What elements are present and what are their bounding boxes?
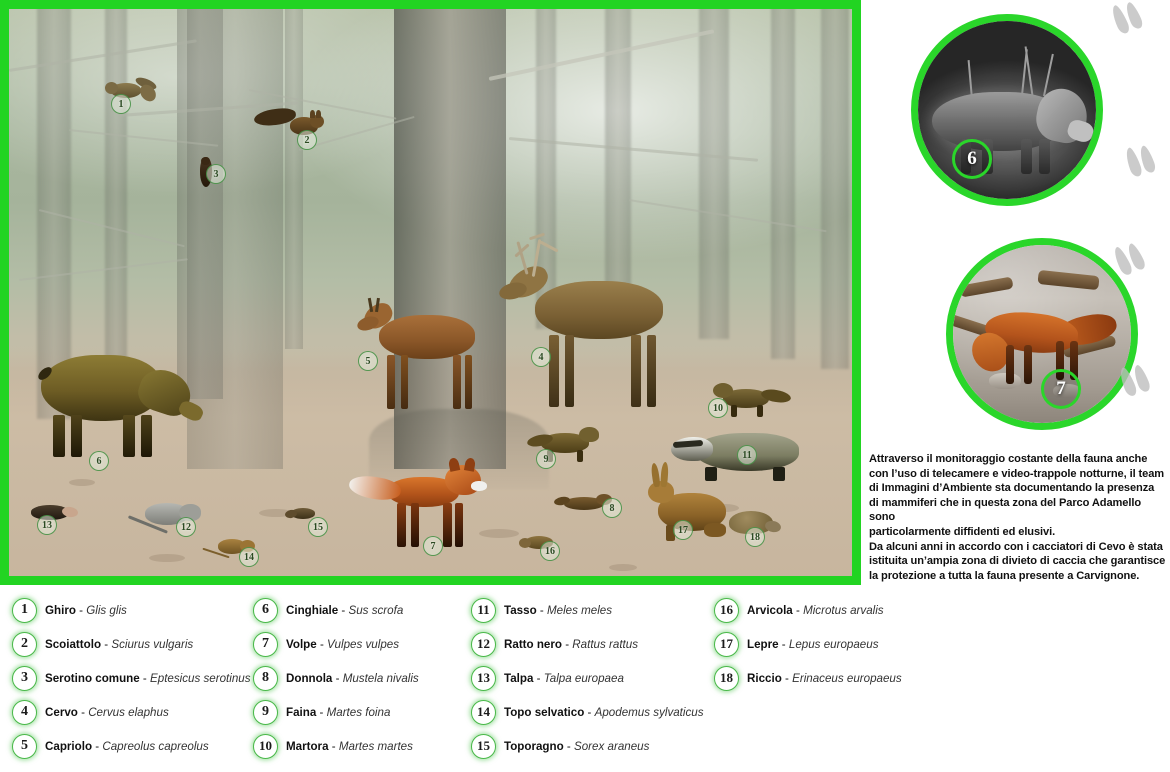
legend-species-label: Lepre - Lepus europaeus xyxy=(747,638,879,651)
desc-line: Da alcuni anni in accordo con i cacciato… xyxy=(869,540,1169,555)
legend-latin-name: Sorex araneus xyxy=(574,740,649,753)
legend-number-badge: 16 xyxy=(714,598,739,623)
legend-common-name: Cervo xyxy=(45,706,78,719)
scene-marker[interactable]: 13 xyxy=(37,515,57,535)
legend-row[interactable]: 17Lepre - Lepus europaeus xyxy=(714,627,944,661)
legend-latin-name: Erinaceus europaeus xyxy=(792,672,902,685)
legend-common-name: Topo selvatico xyxy=(504,706,584,719)
legend-row[interactable]: 13Talpa - Talpa europaea xyxy=(471,661,713,695)
legend-number-badge: 17 xyxy=(714,632,739,657)
scene-marker[interactable]: 11 xyxy=(737,445,757,465)
tree-trunk xyxy=(105,0,127,379)
legend-column-1: 1Ghiro - Glis glis2Scoiattolo - Sciurus … xyxy=(12,593,252,763)
legend-number-badge: 2 xyxy=(12,632,37,657)
scene-marker[interactable]: 4 xyxy=(531,347,551,367)
species-legend: 1Ghiro - Glis glis2Scoiattolo - Sciurus … xyxy=(0,585,1170,772)
legend-latin-name: Microtus arvalis xyxy=(803,604,884,617)
right-column: 6 7 Attraverso il monit xyxy=(861,0,1170,585)
desc-line: Attraverso il monitoraggio costante dell… xyxy=(869,452,1169,467)
legend-species-label: Cervo - Cervus elaphus xyxy=(45,706,169,719)
legend-species-label: Capriolo - Capreolus capreolus xyxy=(45,740,209,753)
legend-latin-name: Martes foina xyxy=(327,706,391,719)
scene-marker[interactable]: 9 xyxy=(536,449,556,469)
legend-latin-name: Mustela nivalis xyxy=(343,672,419,685)
legend-common-name: Scoiattolo xyxy=(45,638,101,651)
tree-trunk xyxy=(771,0,795,359)
legend-species-label: Topo selvatico - Apodemus sylvaticus xyxy=(504,706,704,719)
ground-debris xyxy=(149,554,185,562)
legend-latin-name: Eptesicus serotinus xyxy=(150,672,251,685)
photo-number-badge: 6 xyxy=(952,139,992,179)
legend-latin-name: Martes martes xyxy=(339,740,413,753)
tree-trunk xyxy=(285,0,303,349)
legend-common-name: Riccio xyxy=(747,672,782,685)
legend-row[interactable]: 14Topo selvatico - Apodemus sylvaticus xyxy=(471,695,713,729)
legend-common-name: Talpa xyxy=(504,672,533,685)
ground-debris xyxy=(609,564,637,571)
legend-number-badge: 14 xyxy=(471,700,496,725)
legend-species-label: Toporagno - Sorex araneus xyxy=(504,740,649,753)
photo-number-badge: 7 xyxy=(1041,369,1081,409)
legend-common-name: Martora xyxy=(286,740,329,753)
legend-species-label: Ratto nero - Rattus rattus xyxy=(504,638,638,651)
scene-marker[interactable]: 6 xyxy=(89,451,109,471)
legend-species-label: Arvicola - Microtus arvalis xyxy=(747,604,884,617)
legend-common-name: Tasso xyxy=(504,604,537,617)
scene-marker[interactable]: 8 xyxy=(602,498,622,518)
scene-marker[interactable]: 10 xyxy=(708,398,728,418)
legend-number-badge: 5 xyxy=(12,734,37,759)
legend-row[interactable]: 18Riccio - Erinaceus europaeus xyxy=(714,661,944,695)
legend-species-label: Faina - Martes foina xyxy=(286,706,390,719)
tree-trunk xyxy=(821,0,849,369)
legend-row[interactable]: 4Cervo - Cervus elaphus xyxy=(12,695,252,729)
legend-latin-name: Capreolus capreolus xyxy=(102,740,208,753)
scene-marker[interactable]: 12 xyxy=(176,517,196,537)
legend-latin-name: Lepus europaeus xyxy=(789,638,879,651)
legend-common-name: Capriolo xyxy=(45,740,92,753)
forest-background: 1 2 3 4 5 6 7 8 9 10 11 12 13 14 15 16 1… xyxy=(9,9,852,576)
legend-row[interactable]: 10Martora - Martes martes xyxy=(253,729,471,763)
legend-column-3: 11Tasso - Meles meles12Ratto nero - Ratt… xyxy=(471,593,713,763)
legend-number-badge: 8 xyxy=(253,666,278,691)
camera-trap-photo-boar[interactable]: 6 xyxy=(911,14,1103,206)
camera-trap-photo-fox[interactable]: 7 xyxy=(946,238,1138,430)
legend-species-label: Riccio - Erinaceus europaeus xyxy=(747,672,902,685)
legend-number-badge: 9 xyxy=(253,700,278,725)
legend-species-label: Ghiro - Glis glis xyxy=(45,604,127,617)
legend-row[interactable]: 11Tasso - Meles meles xyxy=(471,593,713,627)
legend-species-label: Donnola - Mustela nivalis xyxy=(286,672,419,685)
forest-scene-panel: 1 2 3 4 5 6 7 8 9 10 11 12 13 14 15 16 1… xyxy=(0,0,861,585)
scene-marker[interactable]: 1 xyxy=(111,94,131,114)
legend-row[interactable]: 2Scoiattolo - Sciurus vulgaris xyxy=(12,627,252,661)
legend-common-name: Lepre xyxy=(747,638,779,651)
legend-common-name: Toporagno xyxy=(504,740,564,753)
legend-row[interactable]: 7Volpe - Vulpes vulpes xyxy=(253,627,471,661)
legend-latin-name: Meles meles xyxy=(547,604,612,617)
scene-marker[interactable]: 17 xyxy=(673,520,693,540)
legend-number-badge: 12 xyxy=(471,632,496,657)
legend-latin-name: Sciurus vulgaris xyxy=(111,638,193,651)
scene-marker[interactable]: 7 xyxy=(423,536,443,556)
legend-common-name: Volpe xyxy=(286,638,317,651)
legend-common-name: Faina xyxy=(286,706,316,719)
legend-common-name: Ghiro xyxy=(45,604,76,617)
legend-latin-name: Apodemus sylvaticus xyxy=(595,706,704,719)
legend-latin-name: Vulpes vulpes xyxy=(327,638,399,651)
legend-common-name: Serotino comune xyxy=(45,672,140,685)
legend-number-badge: 7 xyxy=(253,632,278,657)
scene-marker[interactable]: 5 xyxy=(358,351,378,371)
legend-latin-name: Sus scrofa xyxy=(349,604,404,617)
legend-number-badge: 4 xyxy=(12,700,37,725)
legend-row[interactable]: 12Ratto nero - Rattus rattus xyxy=(471,627,713,661)
legend-row[interactable]: 1Ghiro - Glis glis xyxy=(12,593,252,627)
legend-row[interactable]: 3Serotino comune - Eptesicus serotinus xyxy=(12,661,252,695)
desc-line: particolarmente diffidenti ed elusivi. xyxy=(869,525,1169,540)
legend-common-name: Ratto nero xyxy=(504,638,562,651)
desc-line: la protezione a tutta la fauna presente … xyxy=(869,569,1169,584)
desc-line: istituita un’ampia zona di divieto di ca… xyxy=(869,554,1169,569)
animal-cervo xyxy=(499,253,674,413)
ground-debris xyxy=(69,479,95,486)
legend-number-badge: 3 xyxy=(12,666,37,691)
legend-common-name: Arvicola xyxy=(747,604,793,617)
legend-number-badge: 10 xyxy=(253,734,278,759)
legend-number-badge: 6 xyxy=(253,598,278,623)
legend-species-label: Tasso - Meles meles xyxy=(504,604,612,617)
animal-ratto-nero xyxy=(127,501,219,541)
scene-marker[interactable]: 18 xyxy=(745,527,765,547)
legend-species-label: Talpa - Talpa europaea xyxy=(504,672,624,685)
legend-latin-name: Rattus rattus xyxy=(572,638,638,651)
legend-species-label: Scoiattolo - Sciurus vulgaris xyxy=(45,638,193,651)
legend-row[interactable]: 15Toporagno - Sorex araneus xyxy=(471,729,713,763)
scene-marker[interactable]: 15 xyxy=(308,517,328,537)
legend-latin-name: Glis glis xyxy=(86,604,127,617)
legend-species-label: Serotino comune - Eptesicus serotinus xyxy=(45,672,251,685)
description-text: Attraverso il monitoraggio costante dell… xyxy=(869,452,1169,583)
legend-number-badge: 11 xyxy=(471,598,496,623)
legend-number-badge: 15 xyxy=(471,734,496,759)
legend-row[interactable]: 8Donnola - Mustela nivalis xyxy=(253,661,471,695)
desc-line: di Immagini d’Ambiente sta documentando … xyxy=(869,481,1169,496)
scene-marker[interactable]: 2 xyxy=(297,130,317,150)
legend-common-name: Cinghiale xyxy=(286,604,338,617)
legend-common-name: Donnola xyxy=(286,672,332,685)
legend-species-label: Cinghiale - Sus scrofa xyxy=(286,604,403,617)
legend-row[interactable]: 9Faina - Martes foina xyxy=(253,695,471,729)
legend-species-label: Volpe - Vulpes vulpes xyxy=(286,638,399,651)
desc-line: con l’uso di telecamere e video-trappole… xyxy=(869,467,1169,482)
branch xyxy=(489,29,715,81)
legend-number-badge: 13 xyxy=(471,666,496,691)
legend-number-badge: 1 xyxy=(12,598,37,623)
legend-number-badge: 18 xyxy=(714,666,739,691)
legend-latin-name: Talpa europaea xyxy=(544,672,624,685)
scene-marker[interactable]: 16 xyxy=(540,541,560,561)
animal-cinghiale xyxy=(37,349,209,459)
night-vision-image xyxy=(918,21,1096,199)
legend-latin-name: Cervus elaphus xyxy=(88,706,169,719)
legend-column-4: 16Arvicola - Microtus arvalis17Lepre - L… xyxy=(714,593,944,695)
legend-row[interactable]: 6Cinghiale - Sus scrofa xyxy=(253,593,471,627)
legend-row[interactable]: 16Arvicola - Microtus arvalis xyxy=(714,593,944,627)
scene-marker[interactable]: 3 xyxy=(206,164,226,184)
legend-row[interactable]: 5Capriolo - Capreolus capreolus xyxy=(12,729,252,763)
legend-species-label: Martora - Martes martes xyxy=(286,740,413,753)
scene-marker[interactable]: 14 xyxy=(239,547,259,567)
tree-trunk xyxy=(699,0,729,339)
legend-column-2: 6Cinghiale - Sus scrofa7Volpe - Vulpes v… xyxy=(253,593,471,763)
desc-line: di mammiferi che in questa zona del Parc… xyxy=(869,496,1169,525)
